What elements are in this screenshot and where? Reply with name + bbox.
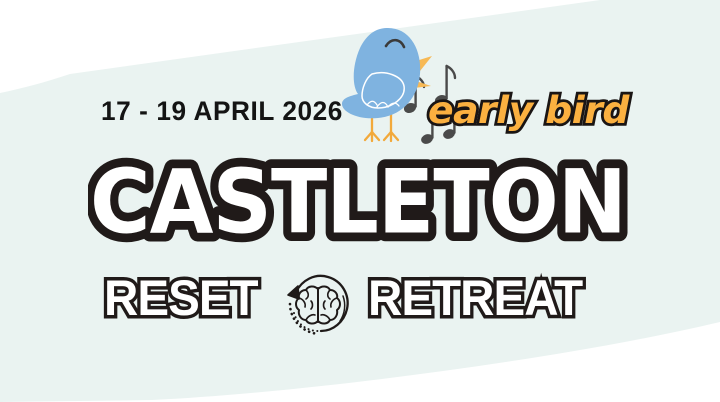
subtitle-word-retreat: RETREAT	[368, 272, 582, 324]
festival-title: CASTLETON	[88, 151, 628, 251]
festival-title-text: CASTLETON	[90, 151, 626, 251]
event-poster: 17 - 19 APRIL 2026	[0, 0, 720, 402]
subtitle-word-reset: RESET	[104, 272, 258, 324]
event-dates: 17 - 19 APRIL 2026	[101, 96, 343, 127]
festival-subtitle: RESET RETREAT	[104, 272, 619, 328]
early-bird-badge: early bird	[428, 89, 629, 132]
brain-reset-icon	[282, 268, 354, 340]
